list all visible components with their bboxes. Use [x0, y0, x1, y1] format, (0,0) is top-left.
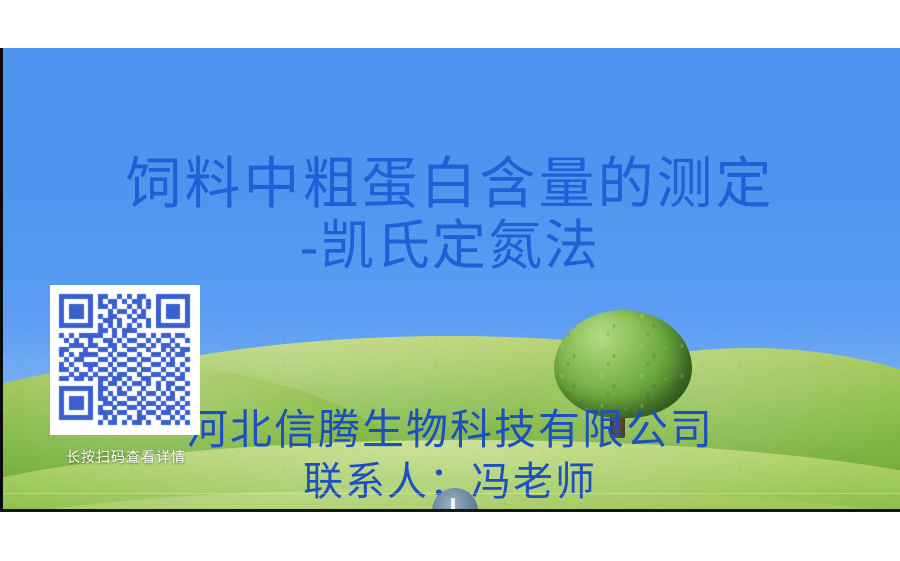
letterbox-edge-bottom — [0, 509, 900, 512]
tree-foliage-texture — [554, 310, 692, 418]
slide-title-primary: 饲料中粗蛋白含量的测定 — [0, 154, 900, 216]
slide-title-subtitle: -凯氏定氮法 — [0, 216, 900, 276]
qr-code-caption: 长按扫码查看详情 — [44, 447, 208, 467]
screen-root: 饲料中粗蛋白含量的测定 -凯氏定氮法 河北信腾生物科技有限公司 联系人：冯老师 … — [0, 0, 900, 561]
qr-code-block[interactable]: 长按扫码查看详情 — [50, 285, 200, 435]
letterbox-edge-left — [0, 48, 3, 512]
qr-code-image[interactable] — [50, 285, 200, 435]
video-player[interactable]: 饲料中粗蛋白含量的测定 -凯氏定氮法 河北信腾生物科技有限公司 联系人：冯老师 … — [0, 48, 900, 512]
slide-title-block: 饲料中粗蛋白含量的测定 -凯氏定氮法 — [0, 154, 900, 276]
